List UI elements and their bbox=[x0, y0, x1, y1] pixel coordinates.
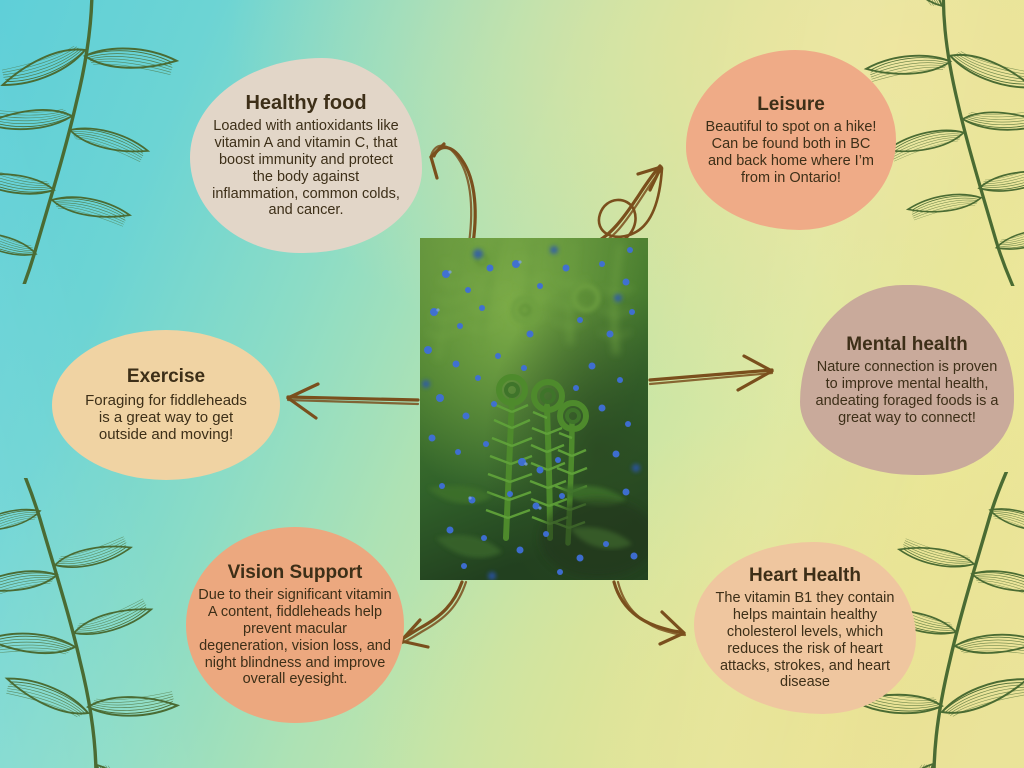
blob-heart-health: Heart Health The vitamin B1 they contain… bbox=[694, 542, 916, 714]
blob-heart-health-title: Heart Health bbox=[749, 565, 861, 587]
arrow-to-healthy-food bbox=[431, 144, 475, 250]
fiddlehead-fern-photo bbox=[420, 238, 648, 580]
blob-leisure: Leisure Beautiful to spot on a hike! Can… bbox=[686, 50, 896, 230]
blob-vision-support: Vision Support Due to their significant … bbox=[186, 527, 404, 723]
arrow-to-heart-health bbox=[614, 582, 685, 644]
blob-healthy-food-title: Healthy food bbox=[245, 92, 366, 116]
blob-mental-health: Mental health Nature connection is prove… bbox=[800, 285, 1014, 475]
blob-healthy-food-body: Loaded with antioxidants like vitamin A … bbox=[211, 118, 401, 219]
blob-leisure-title: Leisure bbox=[757, 94, 825, 116]
blob-mental-health-body: Nature connection is proven to improve m… bbox=[814, 359, 1000, 426]
blob-exercise-body: Foraging for fiddleheads is a great way … bbox=[78, 392, 254, 444]
blob-vision-support-title: Vision Support bbox=[228, 562, 363, 584]
blob-heart-health-body: The vitamin B1 they contain helps mainta… bbox=[705, 590, 905, 691]
blob-exercise-title: Exercise bbox=[127, 366, 205, 388]
arrow-to-exercise bbox=[288, 384, 418, 418]
arrow-to-mental-health bbox=[650, 356, 772, 390]
arrow-to-vision-support bbox=[400, 582, 466, 647]
blob-vision-support-body: Due to their significant vitamin A conte… bbox=[197, 587, 393, 688]
leaf-branch-icon bbox=[0, 0, 222, 284]
infographic-poster: Healthy food Loaded with antioxidants li… bbox=[0, 0, 1024, 768]
blob-leisure-body: Beautiful to spot on a hike! Can be foun… bbox=[703, 119, 879, 186]
blob-exercise: Exercise Foraging for fiddleheads is a g… bbox=[52, 330, 280, 480]
blob-mental-health-title: Mental health bbox=[846, 334, 967, 356]
blob-healthy-food: Healthy food Loaded with antioxidants li… bbox=[190, 58, 422, 253]
